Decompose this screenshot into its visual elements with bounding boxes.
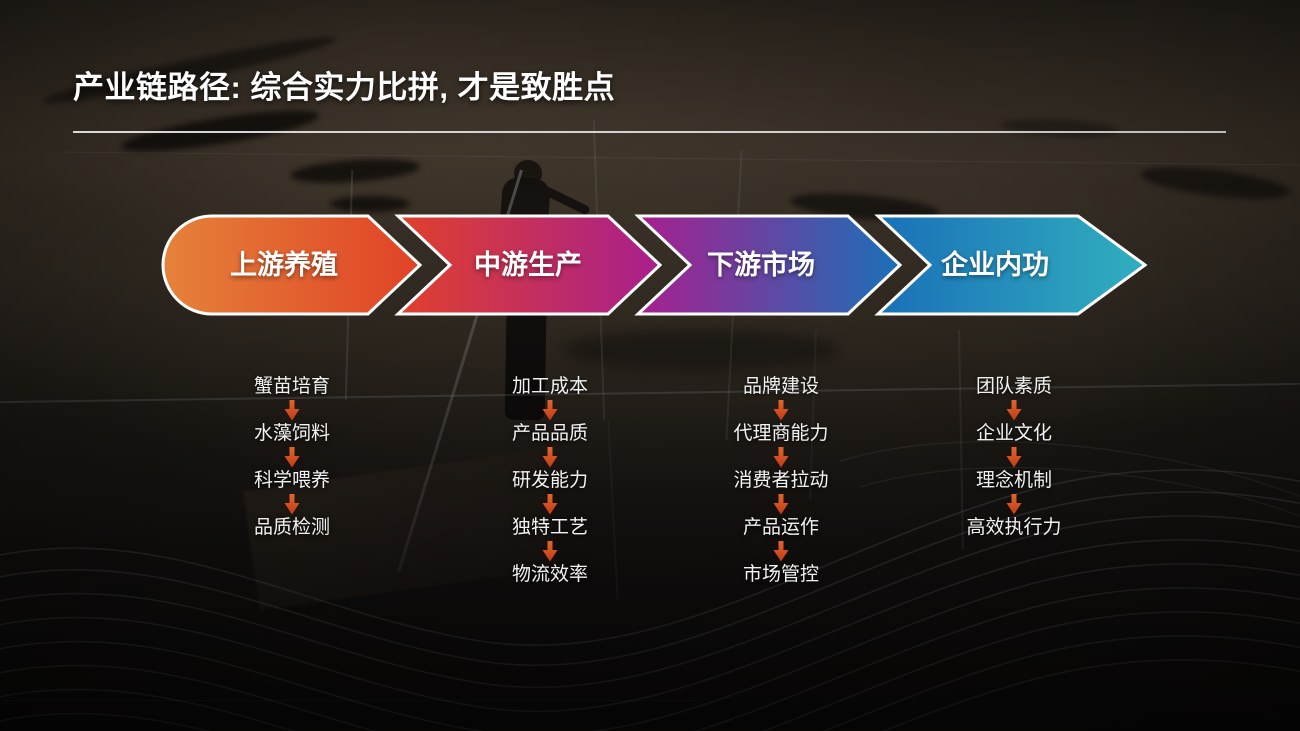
flow-node: 蟹苗培育 bbox=[192, 376, 392, 398]
title-divider bbox=[73, 131, 1226, 133]
flow-node: 产品品质 bbox=[450, 423, 650, 445]
page-title: 产业链路径: 综合实力比拼, 才是致胜点 bbox=[73, 62, 615, 107]
down-arrow-icon bbox=[681, 539, 881, 564]
flow-node: 消费者拉动 bbox=[681, 470, 881, 492]
down-arrow-icon bbox=[450, 539, 650, 564]
down-arrow-icon bbox=[192, 492, 392, 517]
flow-columns: 蟹苗培育 水藻饲料 科学喂养 品质检测 bbox=[0, 376, 1300, 616]
chevron-label-stage-4[interactable]: 企业内功 bbox=[884, 213, 1106, 317]
background-photo bbox=[0, 0, 1300, 731]
flow-node: 研发能力 bbox=[450, 470, 650, 492]
down-arrow-icon bbox=[914, 445, 1114, 470]
flow-column-midstream: 加工成本 产品品质 研发能力 独特工艺 bbox=[450, 376, 650, 586]
down-arrow-icon bbox=[192, 398, 392, 423]
down-arrow-icon bbox=[450, 398, 650, 423]
flow-node: 物流效率 bbox=[450, 564, 650, 586]
down-arrow-icon bbox=[450, 445, 650, 470]
flow-node: 代理商能力 bbox=[681, 423, 881, 445]
down-arrow-icon bbox=[192, 445, 392, 470]
flow-node: 加工成本 bbox=[450, 376, 650, 398]
down-arrow-icon bbox=[681, 492, 881, 517]
down-arrow-icon bbox=[450, 492, 650, 517]
flow-node: 品牌建设 bbox=[681, 376, 881, 398]
flow-node: 产品运作 bbox=[681, 517, 881, 539]
flow-column-internal: 团队素质 企业文化 理念机制 高效执行力 bbox=[914, 376, 1114, 539]
flow-node: 高效执行力 bbox=[914, 517, 1114, 539]
down-arrow-icon bbox=[914, 398, 1114, 423]
chevron-label-stage-3[interactable]: 下游市场 bbox=[650, 213, 872, 317]
flow-node: 市场管控 bbox=[681, 564, 881, 586]
flow-node: 团队素质 bbox=[914, 376, 1114, 398]
slide-canvas: 产业链路径: 综合实力比拼, 才是致胜点 bbox=[0, 0, 1300, 731]
flow-node: 水藻饲料 bbox=[192, 423, 392, 445]
down-arrow-icon bbox=[681, 445, 881, 470]
flow-node: 科学喂养 bbox=[192, 470, 392, 492]
chevron-label-stage-1[interactable]: 上游养殖 bbox=[168, 213, 400, 317]
flow-column-upstream: 蟹苗培育 水藻饲料 科学喂养 品质检测 bbox=[192, 376, 392, 539]
photo-vignette bbox=[0, 0, 1300, 731]
down-arrow-icon bbox=[914, 492, 1114, 517]
flow-column-downstream: 品牌建设 代理商能力 消费者拉动 产品运作 bbox=[681, 376, 881, 586]
flow-node: 理念机制 bbox=[914, 470, 1114, 492]
chevron-label-stage-2[interactable]: 中游生产 bbox=[412, 213, 644, 317]
flow-node: 独特工艺 bbox=[450, 517, 650, 539]
down-arrow-icon bbox=[681, 398, 881, 423]
flow-node: 品质检测 bbox=[192, 517, 392, 539]
flow-node: 企业文化 bbox=[914, 423, 1114, 445]
